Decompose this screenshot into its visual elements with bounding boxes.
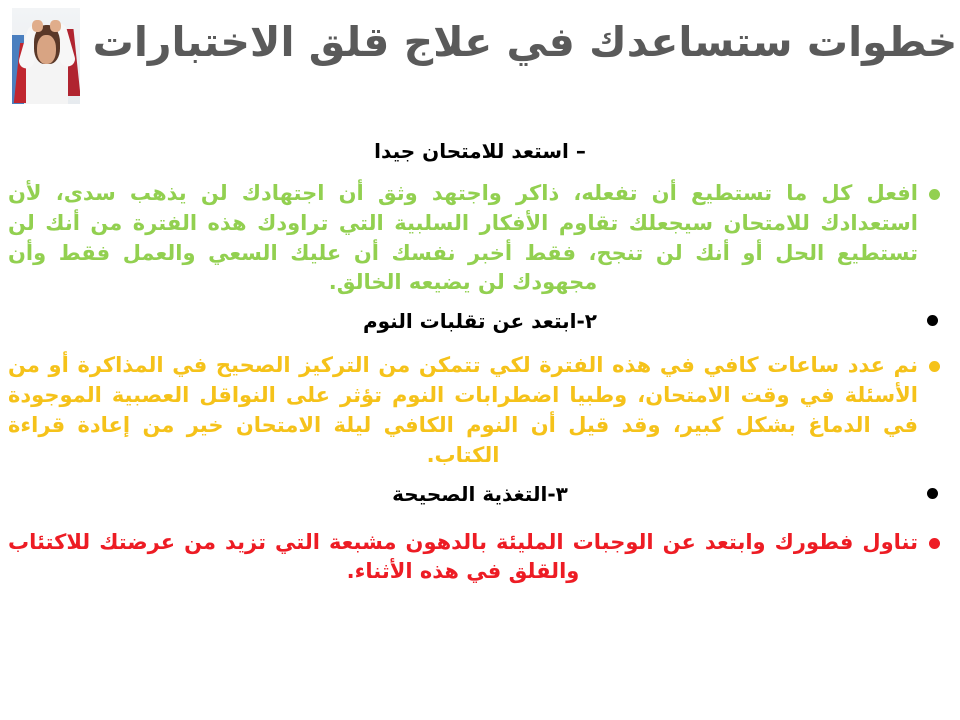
list-item: – استعد للامتحان جيدا bbox=[8, 138, 952, 165]
page-title: خطوات ستساعدك في علاج قلق الاختبارات bbox=[90, 18, 960, 67]
list-item: تناول فطورك وابتعد عن الوجبات المليئة با… bbox=[8, 528, 952, 588]
list-item: ٢-ابتعد عن تقلبات النوم bbox=[8, 308, 952, 335]
photo-hand-right bbox=[50, 20, 61, 32]
bullet-dot-icon bbox=[929, 189, 940, 200]
slide-title-row: خطوات ستساعدك في علاج قلق الاختبارات bbox=[0, 0, 960, 120]
list-item-heading: ٣-التغذية الصحيحة bbox=[8, 481, 952, 508]
photo-hand-left bbox=[32, 20, 43, 32]
bullet-dot-icon bbox=[929, 361, 940, 372]
bullet-dot-icon bbox=[927, 488, 938, 499]
list-item-heading: – استعد للامتحان جيدا bbox=[8, 138, 952, 165]
list-item: ٣-التغذية الصحيحة bbox=[8, 481, 952, 508]
stressed-woman-photo bbox=[12, 8, 80, 104]
list-item-paragraph: نم عدد ساعات كافي في هذه الفترة لكي تتمك… bbox=[8, 351, 918, 470]
photo-artwork bbox=[12, 8, 80, 104]
slide-canvas: خطوات ستساعدك في علاج قلق الاختبارات – ا… bbox=[0, 0, 960, 720]
list-item-paragraph: افعل كل ما تستطيع أن تفعله، ذاكر واجتهد … bbox=[8, 179, 918, 298]
slide-body-list: – استعد للامتحان جيدا افعل كل ما تستطيع … bbox=[8, 128, 952, 587]
photo-face bbox=[37, 35, 55, 64]
list-item: نم عدد ساعات كافي في هذه الفترة لكي تتمك… bbox=[8, 351, 952, 470]
list-item-paragraph: تناول فطورك وابتعد عن الوجبات المليئة با… bbox=[8, 528, 918, 588]
list-item-heading: ٢-ابتعد عن تقلبات النوم bbox=[8, 308, 952, 335]
bullet-dot-icon bbox=[929, 538, 940, 549]
list-item: افعل كل ما تستطيع أن تفعله، ذاكر واجتهد … bbox=[8, 179, 952, 298]
